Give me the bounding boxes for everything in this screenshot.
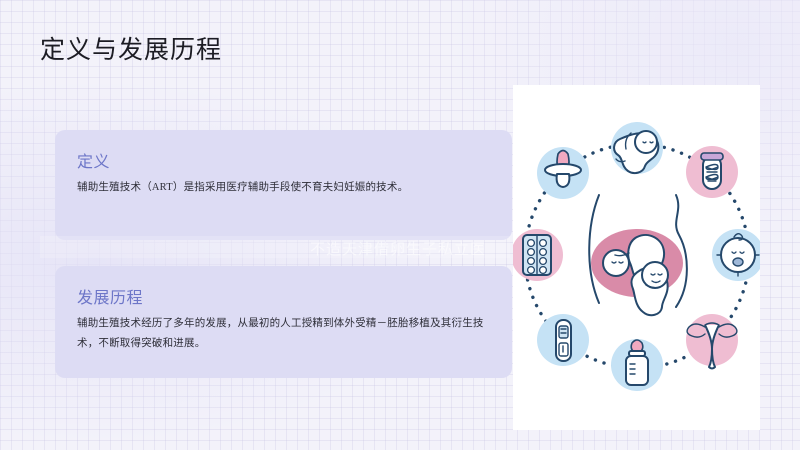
dna-test-tube-icon	[686, 146, 738, 198]
fetus-icon	[611, 122, 663, 174]
card-history-body: 辅助生殖技术经历了多年的发展，从最初的人工授精到体外受精－胚胎移植及其衍生技术，…	[77, 314, 493, 355]
card-history: 发展历程 辅助生殖技术经历了多年的发展，从最初的人工授精到体外受精－胚胎移植及其…	[55, 266, 512, 378]
baby-face-icon	[712, 229, 760, 281]
uterus-icon	[686, 314, 738, 369]
card-definition-title: 定义	[77, 148, 110, 172]
card-history-title: 发展历程	[77, 284, 143, 308]
slide-canvas: 定义与发展历程 定义 辅助生殖技术（ART）是指采用医疗辅助手段使不育夫妇妊娠的…	[0, 0, 800, 450]
baby-bottle-icon	[611, 339, 663, 391]
pill-blister-icon	[513, 229, 563, 281]
pacifier-icon	[537, 147, 589, 199]
watermark-text: 不造天津借卵生子私立医	[310, 238, 486, 259]
pregnancy-test-icon	[537, 314, 589, 366]
card-definition: 定义 辅助生殖技术（ART）是指采用医疗辅助手段使不育夫妇妊娠的技术。	[55, 130, 512, 240]
twins-in-womb	[591, 229, 683, 315]
page-title: 定义与发展历程	[40, 30, 222, 66]
fertility-cycle-illustration: .st{fill:none;stroke:#25486b;stroke-widt…	[513, 85, 760, 430]
card-definition-body: 辅助生殖技术（ART）是指采用医疗辅助手段使不育夫妇妊娠的技术。	[77, 178, 493, 198]
illustration-panel: .st{fill:none;stroke:#25486b;stroke-widt…	[513, 85, 760, 430]
